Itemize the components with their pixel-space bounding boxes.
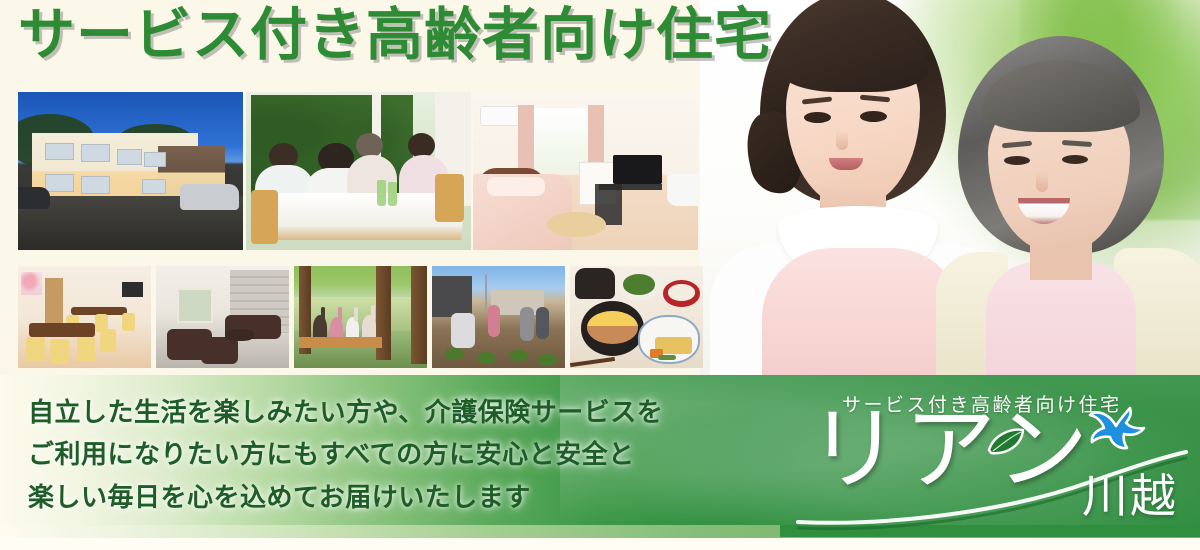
senior-eye-left	[1004, 156, 1030, 165]
photo-gardening-activity	[432, 266, 565, 368]
caregiver-eye-left	[804, 112, 831, 123]
lead-line-1: 自立した生活を楽しみたい方や、介護保険サービスを	[28, 392, 708, 434]
senior-floral-top	[986, 262, 1136, 382]
photo-lounge	[156, 266, 289, 368]
caregiver-eye-right	[860, 111, 887, 122]
logo-name: リアン	[808, 404, 1092, 496]
leaf-icon	[986, 426, 1026, 456]
site-banner: サービス付き高齢者向け住宅	[0, 0, 1200, 550]
lead-copy: 自立した生活を楽しみたい方や、介護保険サービスを ご利用になりたい方にもすべての…	[28, 392, 708, 519]
page-title: サービス付き高齢者向け住宅	[18, 6, 772, 66]
photo-residents-dining-outdoors	[246, 92, 471, 250]
lead-line-2: ご利用になりたい方にもすべての方に安心と安全と	[28, 434, 708, 476]
brand-logo[interactable]: サービス付き高齢者向け住宅 リアン 川越	[790, 382, 1190, 540]
photo-lakeside-outing	[294, 266, 427, 368]
photo-dining-hall	[18, 266, 151, 368]
senior-eye-right	[1062, 155, 1088, 164]
senior-nose	[1036, 172, 1048, 192]
photo-private-room	[473, 92, 698, 250]
lead-line-3: 楽しい毎日を心を込めてお届けいたします	[28, 477, 708, 519]
bird-icon	[1086, 406, 1148, 456]
caregiver-apron	[762, 248, 962, 382]
caregiver-nose	[836, 130, 848, 150]
photo-facility-exterior	[18, 92, 243, 250]
logo-city: 川越	[1082, 460, 1178, 526]
hero-photo-caregiver-senior	[700, 0, 1200, 382]
photo-meal-tray	[570, 266, 703, 368]
